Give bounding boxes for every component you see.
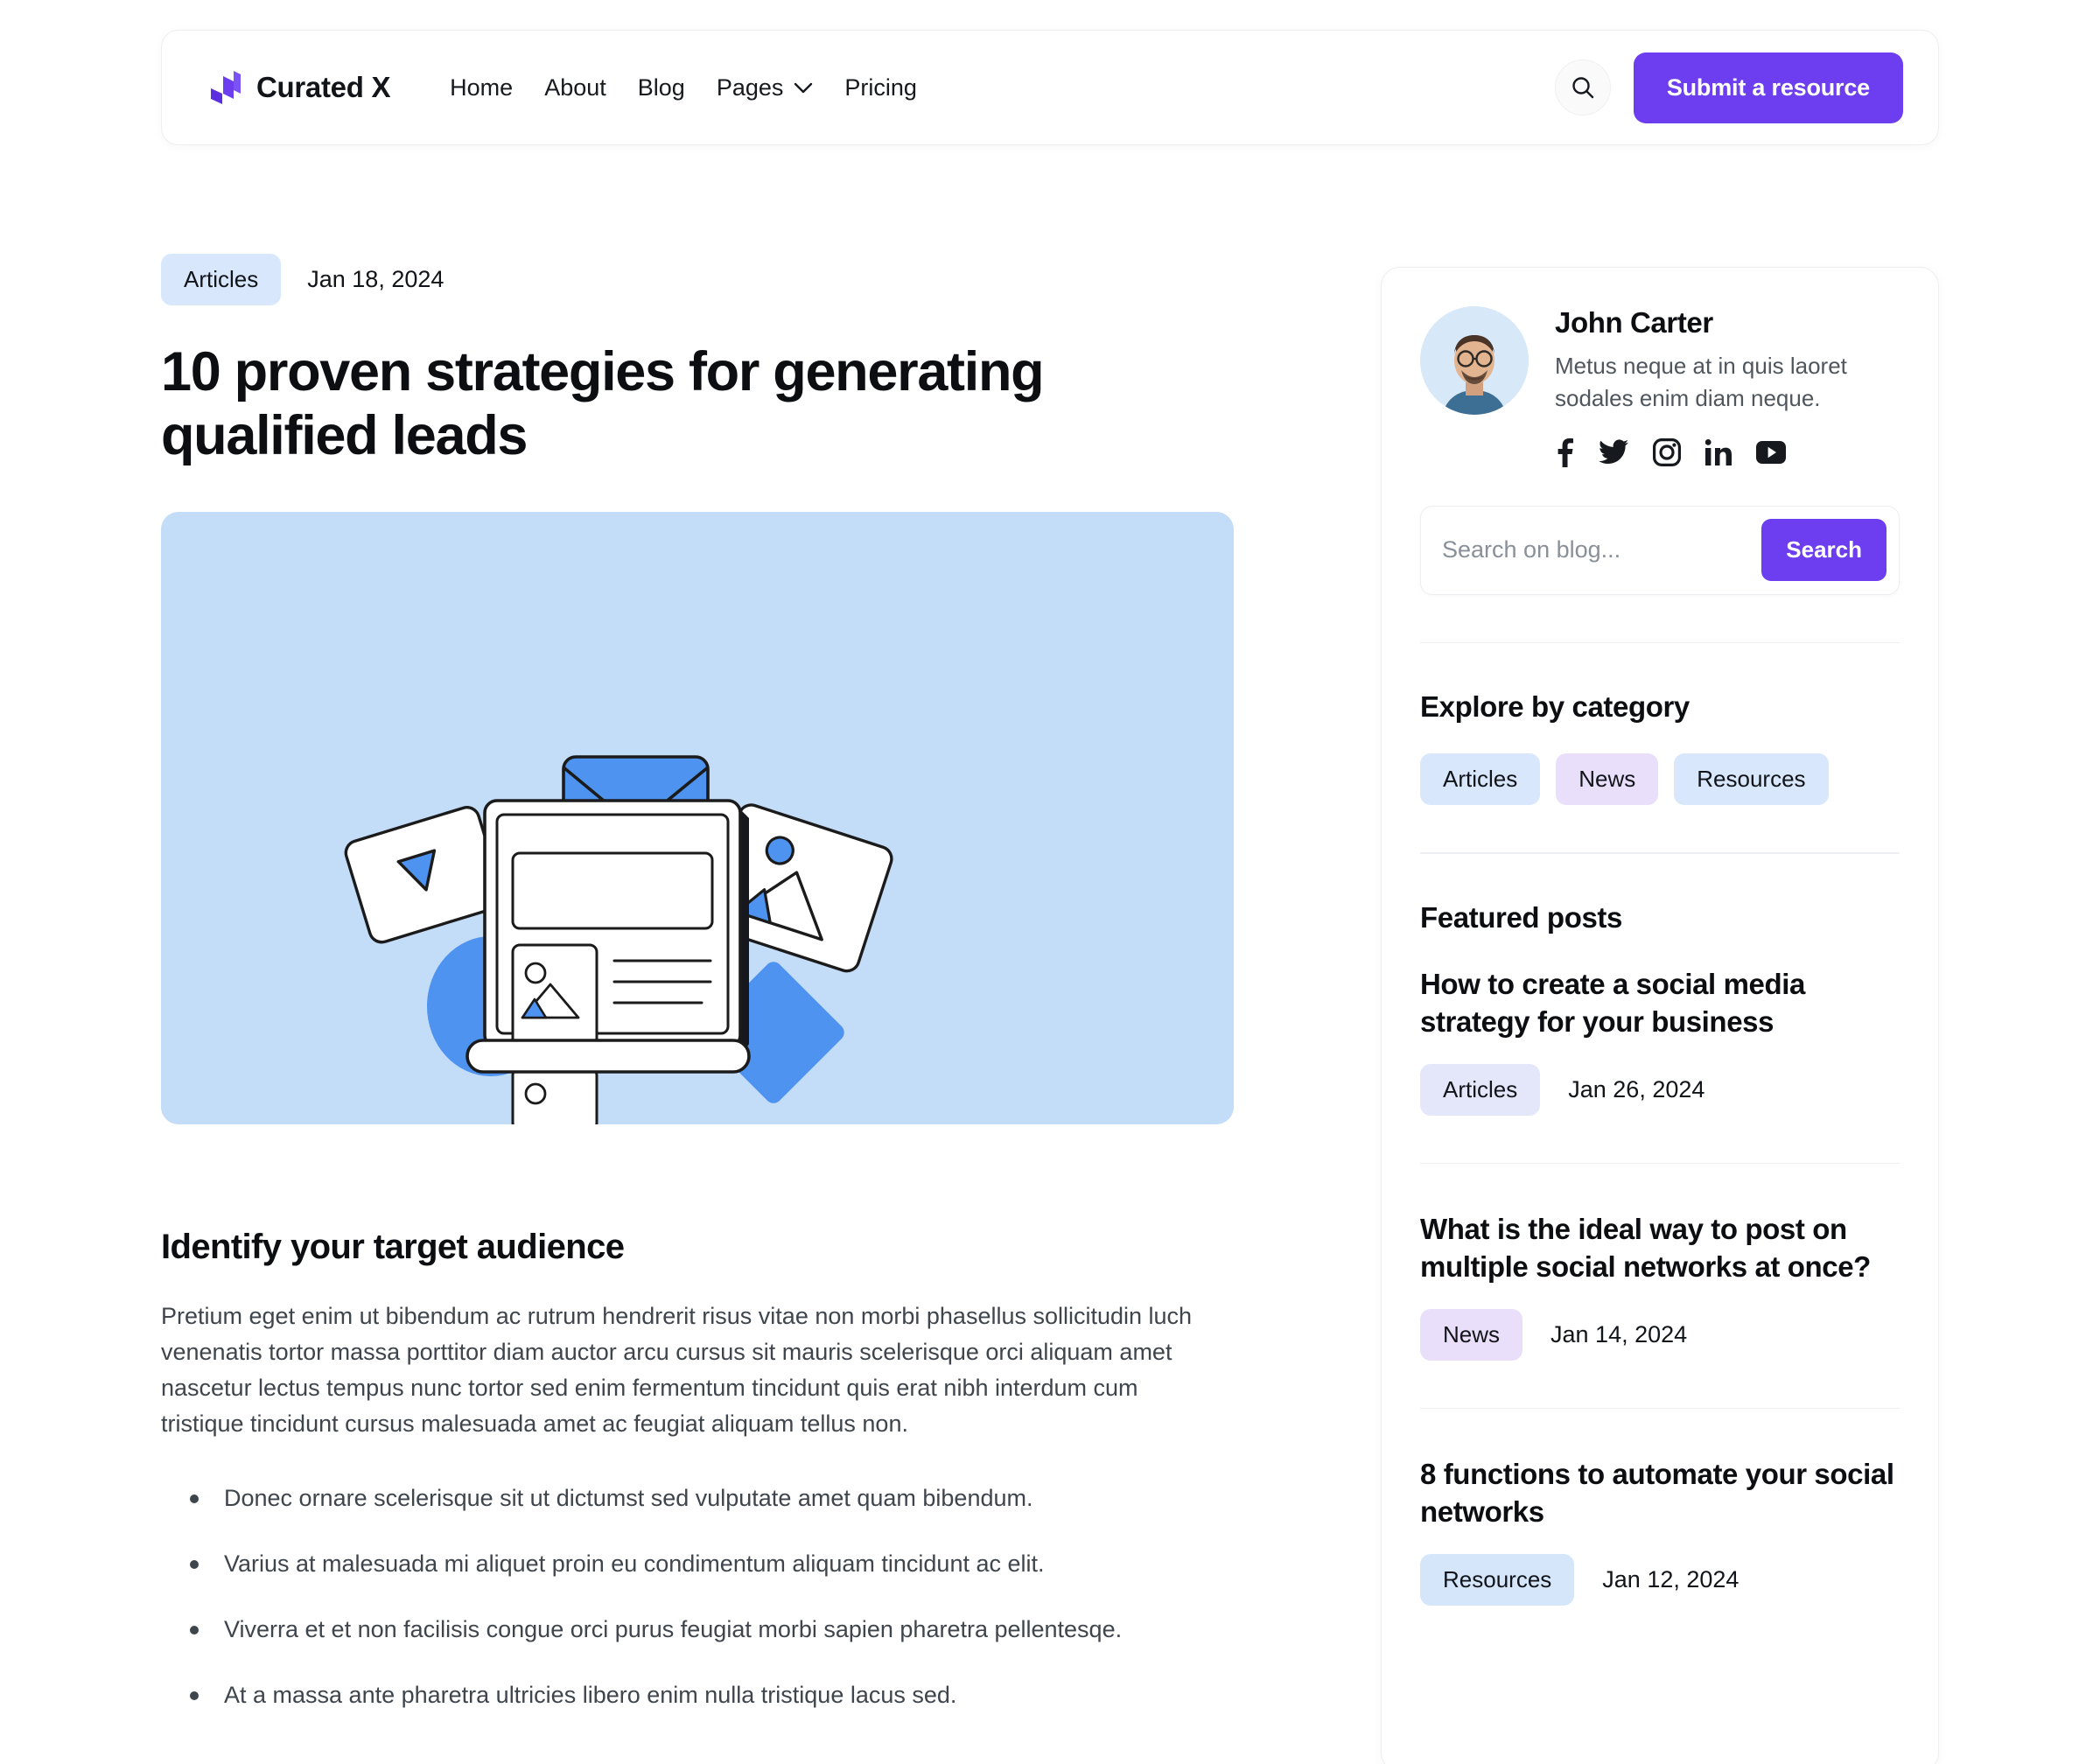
blog-search-button[interactable]: Search bbox=[1761, 519, 1886, 581]
nav-item-label: Blog bbox=[638, 74, 685, 101]
social-links bbox=[1555, 437, 1900, 467]
featured-post-title[interactable]: How to create a social media strategy fo… bbox=[1420, 966, 1900, 1041]
chevron-down-icon bbox=[794, 82, 813, 94]
author-info: John Carter Metus neque at in quis laore… bbox=[1555, 306, 1900, 467]
main-navbar: Curated X Home About Blog Pages Pricing bbox=[161, 30, 1939, 145]
facebook-icon[interactable] bbox=[1555, 437, 1574, 467]
john-carter-avatar-icon bbox=[1420, 306, 1529, 415]
nav-item-home[interactable]: Home bbox=[434, 66, 528, 110]
featured-posts-heading: Featured posts bbox=[1420, 901, 1900, 934]
instagram-icon[interactable] bbox=[1653, 438, 1681, 466]
list-item: Donec ornare scelerisque sit ut dictumst… bbox=[161, 1482, 1237, 1515]
category-chip-list: Articles News Resources bbox=[1420, 753, 1900, 805]
featured-post-item[interactable]: How to create a social media strategy fo… bbox=[1420, 966, 1900, 1116]
lead-magnet-illustration-icon bbox=[161, 512, 1234, 1124]
featured-post-title[interactable]: 8 functions to automate your social netw… bbox=[1420, 1456, 1900, 1531]
divider bbox=[1420, 1408, 1900, 1410]
nav-item-blog[interactable]: Blog bbox=[622, 66, 701, 110]
twitter-icon[interactable] bbox=[1599, 439, 1628, 465]
nav-item-label: Pricing bbox=[844, 74, 917, 101]
page-root: Curated X Home About Blog Pages Pricing bbox=[0, 0, 2100, 1764]
featured-post-meta: News Jan 14, 2024 bbox=[1420, 1309, 1900, 1361]
sidebar: John Carter Metus neque at in quis laore… bbox=[1381, 267, 1939, 1764]
search-icon bbox=[1570, 74, 1596, 101]
featured-post-meta: Articles Jan 26, 2024 bbox=[1420, 1064, 1900, 1116]
featured-post-category-badge[interactable]: Resources bbox=[1420, 1554, 1574, 1606]
article-paragraph: Pretium eget enim ut bibendum ac rutrum … bbox=[161, 1298, 1198, 1442]
explore-by-category-section: Explore by category Articles News Resour… bbox=[1420, 690, 1900, 805]
category-chip-resources[interactable]: Resources bbox=[1674, 753, 1828, 805]
divider bbox=[1420, 1163, 1900, 1165]
list-item: Varius at malesuada mi aliquet proin eu … bbox=[161, 1548, 1237, 1581]
author-card: John Carter Metus neque at in quis laore… bbox=[1420, 306, 1900, 467]
list-item: At a massa ante pharetra ultricies liber… bbox=[161, 1679, 1237, 1712]
featured-post-date: Jan 12, 2024 bbox=[1602, 1566, 1739, 1593]
nav-links: Home About Blog Pages Pricing bbox=[434, 66, 933, 110]
featured-post-meta: Resources Jan 12, 2024 bbox=[1420, 1554, 1900, 1606]
nav-item-pages[interactable]: Pages bbox=[701, 66, 829, 110]
article-column: Articles Jan 18, 2024 10 proven strategi… bbox=[161, 254, 1237, 1744]
avatar bbox=[1420, 306, 1529, 415]
blog-search-input[interactable] bbox=[1442, 536, 1761, 563]
navbar-actions: Submit a resource bbox=[1555, 52, 1903, 123]
author-name: John Carter bbox=[1555, 306, 1900, 339]
nav-item-about[interactable]: About bbox=[528, 66, 622, 110]
explore-by-category-heading: Explore by category bbox=[1420, 690, 1900, 724]
linkedin-icon[interactable] bbox=[1705, 439, 1732, 465]
blog-search-box: Search bbox=[1420, 506, 1900, 595]
featured-post-item[interactable]: 8 functions to automate your social netw… bbox=[1420, 1456, 1900, 1606]
nav-item-label: About bbox=[544, 74, 606, 101]
featured-post-item[interactable]: What is the ideal way to post on multipl… bbox=[1420, 1211, 1900, 1361]
featured-posts-section: Featured posts How to create a social me… bbox=[1420, 901, 1900, 1606]
stacked-chevron-logo-icon bbox=[209, 69, 242, 106]
article-category-badge[interactable]: Articles bbox=[161, 254, 281, 305]
category-chip-news[interactable]: News bbox=[1556, 753, 1658, 805]
article-meta: Articles Jan 18, 2024 bbox=[161, 254, 1237, 305]
featured-post-date: Jan 26, 2024 bbox=[1568, 1076, 1704, 1103]
featured-post-title[interactable]: What is the ideal way to post on multipl… bbox=[1420, 1211, 1900, 1286]
author-bio: Metus neque at in quis laoret sodales en… bbox=[1555, 350, 1900, 415]
divider bbox=[1420, 642, 1900, 644]
section-heading: Identify your target audience bbox=[161, 1228, 1237, 1267]
article-hero-image bbox=[161, 512, 1234, 1124]
article-date: Jan 18, 2024 bbox=[307, 266, 444, 293]
brand-name: Curated X bbox=[256, 71, 390, 104]
search-icon-button[interactable] bbox=[1555, 59, 1611, 115]
brand-logo[interactable]: Curated X bbox=[209, 69, 390, 106]
article-bullet-list: Donec ornare scelerisque sit ut dictumst… bbox=[161, 1482, 1237, 1711]
article-title: 10 proven strategies for generating qual… bbox=[161, 340, 1141, 468]
nav-item-label: Pages bbox=[717, 74, 784, 101]
divider bbox=[1420, 852, 1900, 854]
featured-post-date: Jan 14, 2024 bbox=[1550, 1321, 1687, 1348]
featured-post-category-badge[interactable]: Articles bbox=[1420, 1064, 1540, 1116]
nav-item-pricing[interactable]: Pricing bbox=[829, 66, 933, 110]
category-chip-articles[interactable]: Articles bbox=[1420, 753, 1540, 805]
nav-item-label: Home bbox=[450, 74, 513, 101]
submit-resource-button[interactable]: Submit a resource bbox=[1634, 52, 1903, 123]
youtube-icon[interactable] bbox=[1756, 441, 1786, 464]
featured-post-category-badge[interactable]: News bbox=[1420, 1309, 1522, 1361]
list-item: Viverra et et non facilisis congue orci … bbox=[161, 1613, 1237, 1647]
